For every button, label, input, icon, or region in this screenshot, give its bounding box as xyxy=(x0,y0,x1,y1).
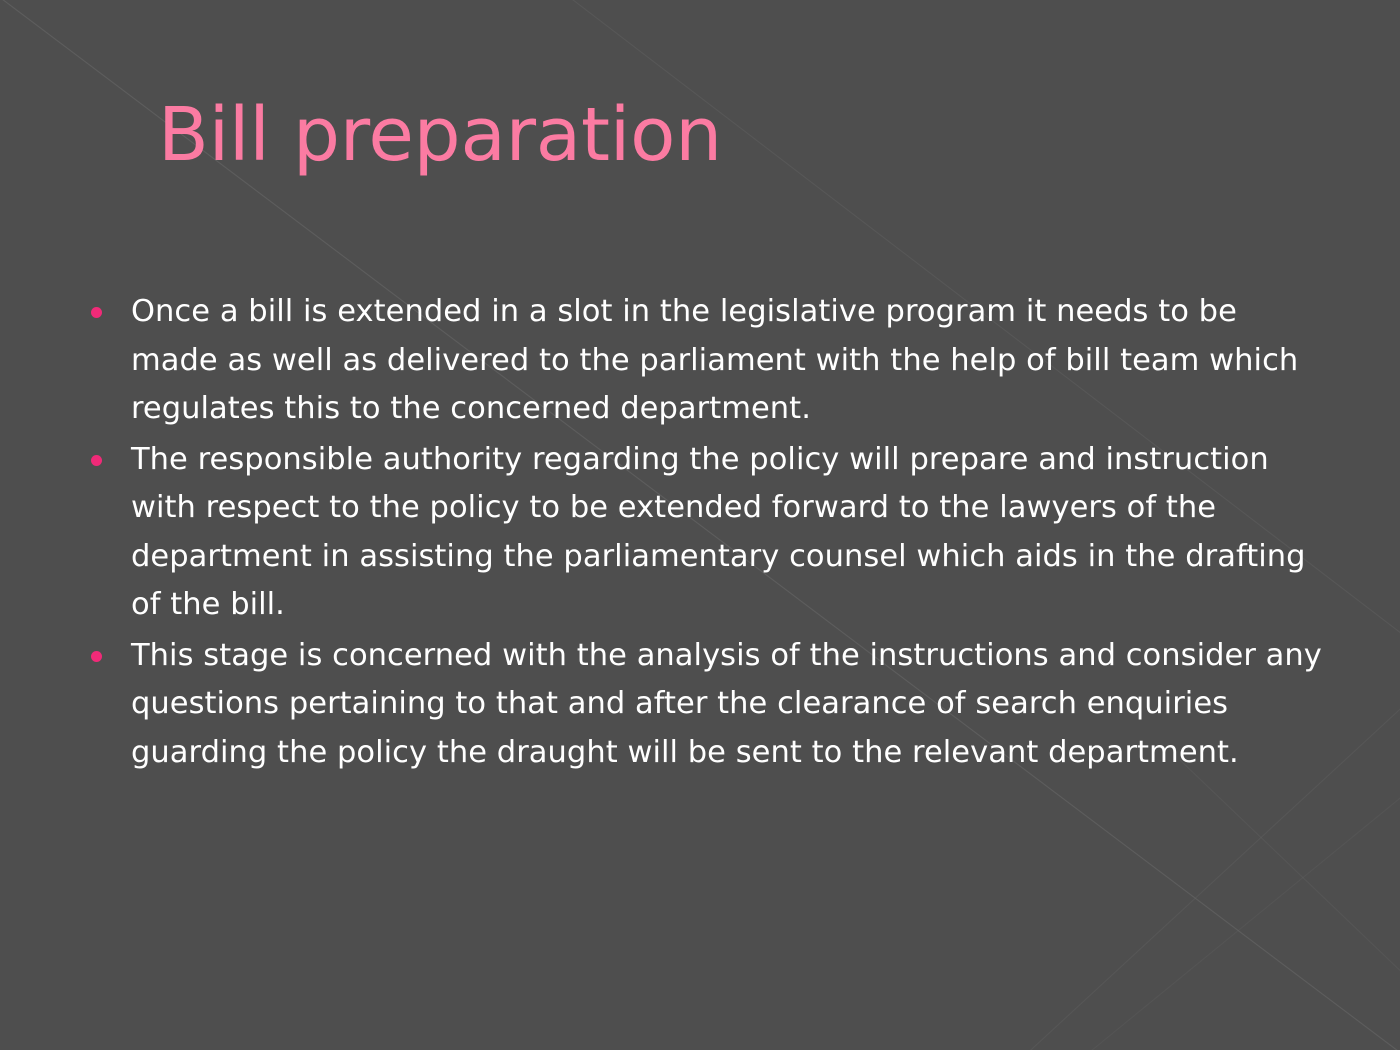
bullet-list-item: Once a bill is extended in a slot in the… xyxy=(78,288,1328,434)
slide-title: Bill preparation xyxy=(158,96,1338,176)
bullet-dot-icon xyxy=(91,307,102,318)
bullet-list-item: This stage is concerned with the analysi… xyxy=(78,632,1328,778)
slide-body-content: Once a bill is extended in a slot in the… xyxy=(78,288,1328,779)
bullet-dot-icon xyxy=(91,651,102,662)
bullet-item-text: The responsible authority regarding the … xyxy=(131,436,1328,630)
bullet-list-item: The responsible authority regarding the … xyxy=(78,436,1328,630)
bullet-dot-icon xyxy=(91,455,102,466)
bullet-item-text: Once a bill is extended in a slot in the… xyxy=(131,288,1328,434)
presentation-slide: Bill preparation Once a bill is extended… xyxy=(0,0,1400,1050)
bullet-item-text: This stage is concerned with the analysi… xyxy=(131,632,1328,778)
